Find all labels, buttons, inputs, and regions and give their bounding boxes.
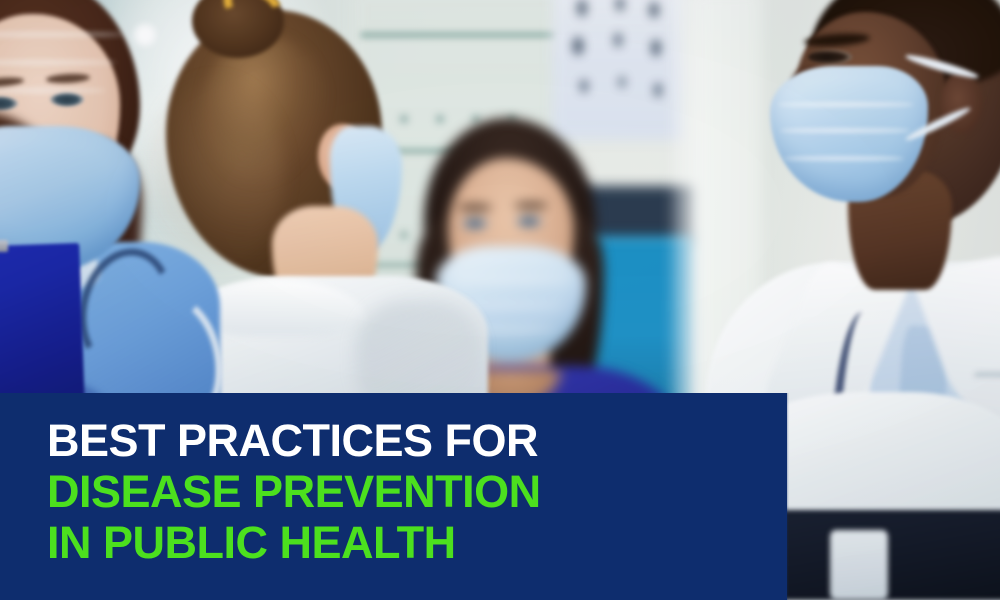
mask-pleat — [778, 102, 914, 107]
xray-lightbox-marks — [558, 0, 682, 130]
nurse-eye — [50, 92, 84, 107]
title-line-3: IN PUBLIC HEALTH — [47, 517, 779, 568]
title-banner: BEST PRACTICES FOR DISEASE PREVENTION IN… — [0, 393, 787, 600]
clipboard-icon — [0, 243, 85, 409]
title-line-1: BEST PRACTICES FOR — [47, 415, 779, 466]
mask-pleat — [780, 128, 910, 133]
poster: BEST PRACTICES FOR DISEASE PREVENTION IN… — [0, 0, 1000, 600]
title-block: BEST PRACTICES FOR DISEASE PREVENTION IN… — [47, 415, 779, 568]
doctor-ear — [940, 72, 982, 134]
doctor-eye — [808, 50, 852, 64]
doctor-right — [752, 0, 1000, 600]
title-line-2: DISEASE PREVENTION — [47, 466, 779, 517]
patient-eyebrow — [514, 202, 548, 209]
mask-pleat — [784, 156, 904, 161]
patient-eye — [516, 216, 542, 227]
doctor-cuff — [830, 530, 888, 600]
nurse-left — [0, 0, 220, 412]
clipboard-clip — [0, 240, 8, 252]
